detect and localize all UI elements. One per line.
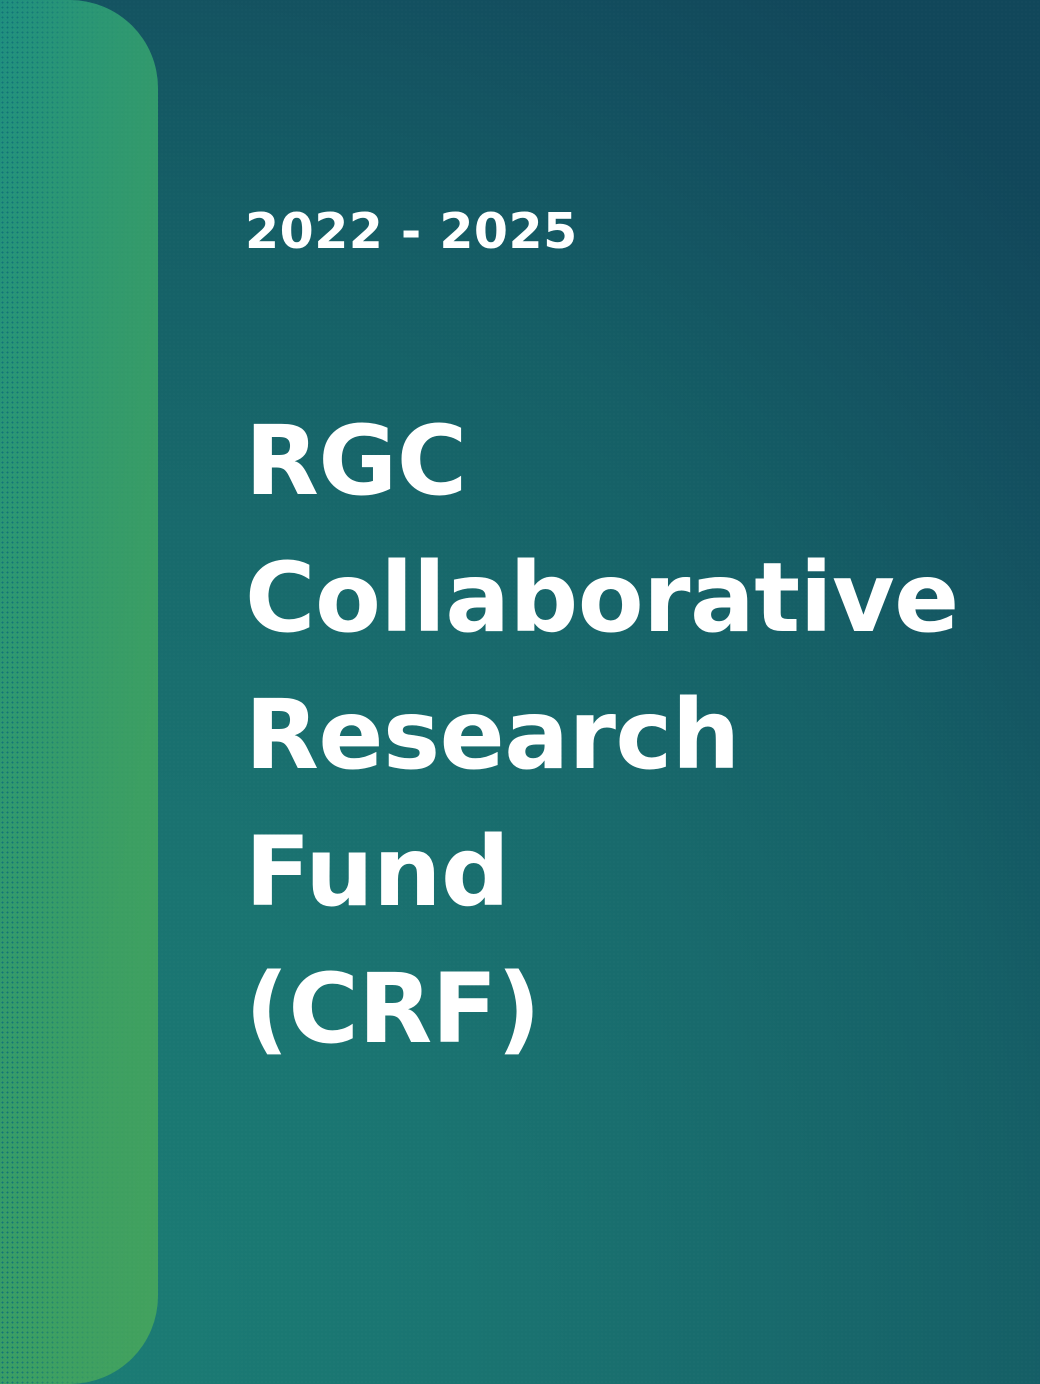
title-line-3: Research xyxy=(245,667,990,804)
title-line-4: Fund xyxy=(245,804,990,941)
dot-texture-overlay xyxy=(0,0,158,1384)
title-line-5: (CRF) xyxy=(245,941,990,1078)
title-line-1: RGC xyxy=(245,393,990,530)
title-line-2: Collaborative xyxy=(245,530,990,667)
period-label: 2022 - 2025 xyxy=(245,205,578,259)
page-title: RGC Collaborative Research Fund (CRF) xyxy=(245,393,990,1078)
cover-text-block: 2022 - 2025 RGC Collaborative Research F… xyxy=(245,0,1005,1384)
left-accent-bar xyxy=(0,0,158,1384)
cover-page: 2022 - 2025 RGC Collaborative Research F… xyxy=(0,0,1040,1384)
